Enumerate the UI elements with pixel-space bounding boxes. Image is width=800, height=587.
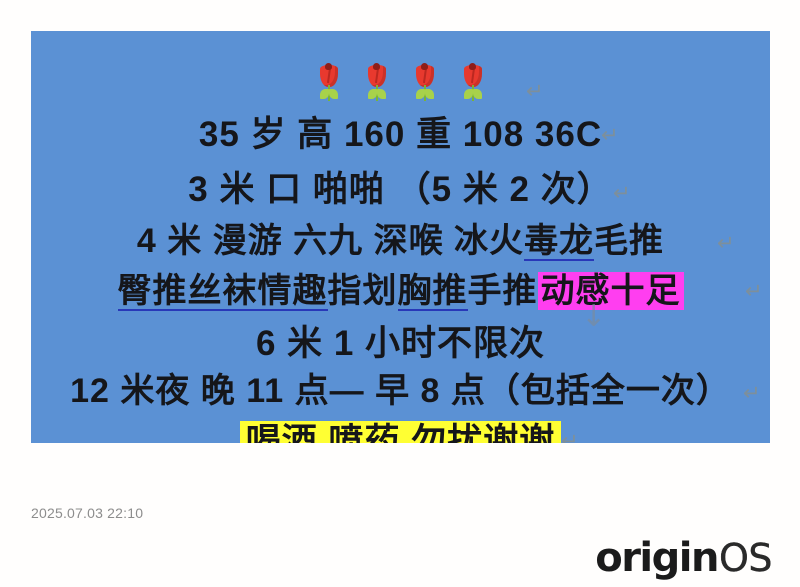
poster-line-4-seg-3-underlined: 丝袜情趣 (188, 274, 328, 311)
poster-line-5-text: 6 米 1 小时不限次 (256, 326, 545, 361)
return-marker-icon: ↵ (743, 381, 761, 405)
poster-line-3: 4 米 漫游 六九 深喉 冰火 毒龙 毛推 (31, 224, 770, 261)
poster-line-4: 臀推 丝袜情趣 指划 胸推 手推 动感十足 (31, 272, 770, 311)
poster-line-4-seg-4: 指划 (328, 274, 398, 308)
return-marker-icon: ↵ (745, 279, 763, 303)
poster-line-7: 喝酒 喷药 勿扰谢谢 (31, 421, 770, 443)
poster-line-5: 6 米 1 小时不限次 (31, 326, 770, 361)
emoji-row (31, 65, 770, 105)
tulip-emoji (318, 65, 340, 105)
poster-line-1: 35 岁 高 160 重 108 36C (31, 117, 770, 152)
poster-line-4-seg-7-highlighted: 动感十足 (538, 272, 684, 310)
poster-line-1-text: 35 岁 高 160 重 108 36C (199, 117, 602, 152)
poster-line-3-seg-2-underlined: 毒龙 (524, 224, 594, 261)
originos-logo-os: OS (719, 539, 772, 577)
return-marker-icon: ↵ (561, 429, 579, 443)
poster-line-3-seg-3: 毛推 (594, 224, 664, 258)
poster-line-6: 12 米夜 晚 11 点— 早 8 点（包括全一次） (31, 374, 770, 408)
timestamp: 2025.07.03 22:10 (31, 505, 143, 521)
return-marker-icon: ↵ (601, 123, 619, 147)
down-arrow-icon: ↓ (581, 299, 606, 334)
tulip-emoji (462, 65, 484, 105)
return-marker-icon: ↵ (526, 79, 544, 103)
return-marker-icon: ↵ (613, 181, 631, 205)
poster-line-4-seg-5-underlined: 胸推 (398, 274, 468, 311)
poster-line-4-seg-6: 手推 (468, 274, 538, 308)
poster-image: ↵ 35 岁 高 160 重 108 36C ↵ 3 米 口 啪啪 （5 米 2… (31, 31, 770, 443)
originos-logo: originOS (595, 538, 772, 578)
poster-line-7-seg-1-highlighted: 喝酒 喷药 勿扰谢谢 (240, 421, 561, 443)
tulip-emoji (414, 65, 436, 105)
poster-line-2: 3 米 口 啪啪 （5 米 2 次） (31, 172, 770, 207)
poster-line-3-seg-1: 4 米 漫游 六九 深喉 冰火 (137, 224, 524, 258)
tulip-emoji (366, 65, 388, 105)
poster-line-6-text: 12 米夜 晚 11 点— 早 8 点（包括全一次） (70, 374, 731, 408)
poster-line-4-seg-1-underlined: 臀推 (118, 274, 188, 311)
poster-line-2-text: 3 米 口 啪啪 （5 米 2 次） (188, 172, 612, 207)
originos-logo-origin: origin (595, 538, 718, 578)
return-marker-icon: ↵ (717, 231, 735, 255)
